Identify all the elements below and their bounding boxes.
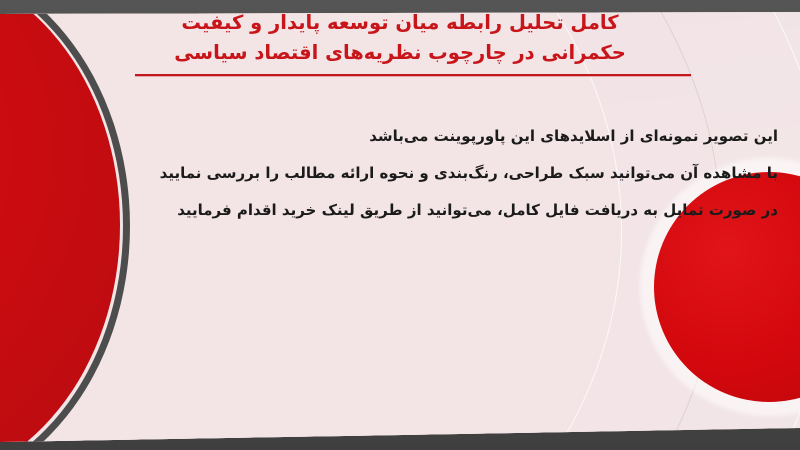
title-underline-rule	[135, 74, 691, 77]
slide-title-line-2: حکمرانی در چارچوب نظریه‌های اقتصاد سیاسی	[60, 38, 740, 68]
slide-body-line-2: با مشاهده آن می‌توانید سبک طراحی، رنگ‌بن…	[22, 155, 778, 192]
slide-body-text: این تصویر نمونه‌ای از اسلایدهای این پاور…	[22, 118, 778, 229]
slide-body-line-3: در صورت تمایل به دریافت فایل کامل، می‌تو…	[22, 192, 778, 229]
slide-content-panel: کامل تحلیل رابطه میان توسعه پایدار و کیف…	[0, 0, 800, 450]
presentation-slide: کامل تحلیل رابطه میان توسعه پایدار و کیف…	[0, 0, 800, 450]
slide-title: کامل تحلیل رابطه میان توسعه پایدار و کیف…	[60, 8, 740, 68]
slide-body-line-1: این تصویر نمونه‌ای از اسلایدهای این پاور…	[22, 118, 778, 155]
